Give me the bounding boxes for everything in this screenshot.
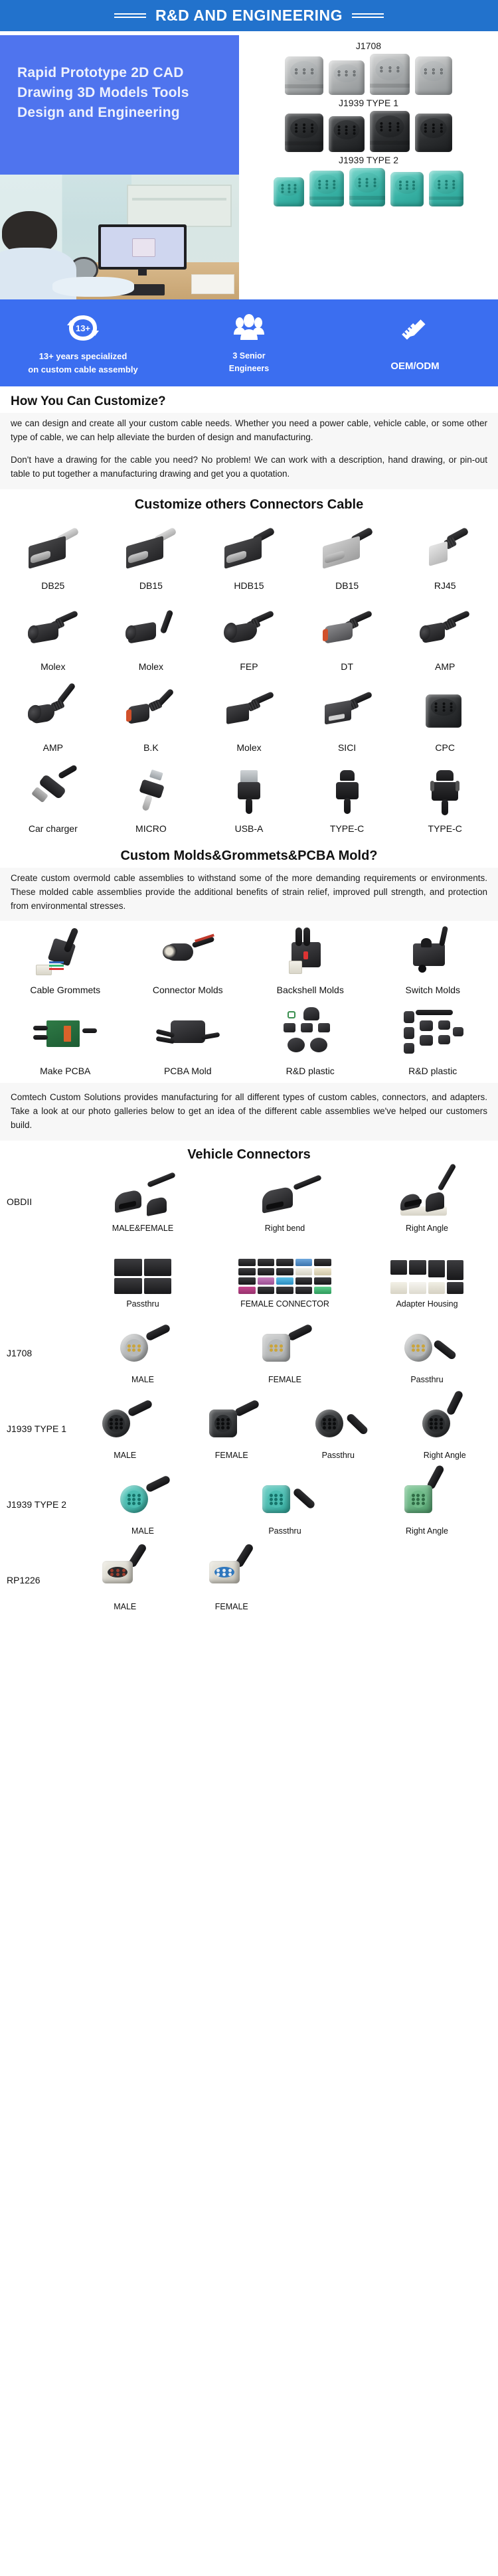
- vehicle-item-caption: Right Angle: [392, 1448, 498, 1465]
- connector-cell: MICRO: [102, 764, 201, 841]
- photo-monitor: [98, 224, 187, 270]
- j1939t1-passthru-icon: [285, 1392, 392, 1448]
- connector-group-j1939-type2: J1939 TYPE 2: [239, 155, 498, 206]
- j1708-female-icon: [214, 1317, 356, 1372]
- rd-plastic-harness-icon: [372, 1006, 495, 1063]
- connector-group-title: J1708: [239, 40, 498, 51]
- customize-body: we can design and create all your custom…: [0, 413, 498, 489]
- connector-cell: HDB15: [200, 521, 298, 598]
- svg-text:13+: 13+: [76, 323, 90, 333]
- rp1226-male-icon: [72, 1544, 179, 1599]
- obd-right-bend-icon: [214, 1165, 356, 1221]
- female-connector-cluster-icon: [214, 1241, 356, 1297]
- section-custom-molds: Custom Molds&Grommets&PCBA Mold? Create …: [0, 841, 498, 1084]
- vehicle-item-caption: FEMALE: [179, 1448, 286, 1465]
- vehicle-item: FEMALE: [214, 1317, 356, 1390]
- connector-cell: SICI: [298, 683, 396, 760]
- vehicle-item: MALE: [72, 1544, 179, 1617]
- vehicle-row-items: MALE FEMALE Passthru: [72, 1317, 498, 1390]
- obd-passthru-cluster-icon: [72, 1241, 214, 1297]
- j1708-connector-2: [329, 60, 365, 95]
- connector-label: CPC: [396, 740, 494, 760]
- j1939t1-female-icon: [179, 1392, 286, 1448]
- car-charger-icon: [4, 764, 102, 821]
- vehicle-item: FEMALE: [179, 1544, 286, 1617]
- section-other-connectors: Customize others Connectors Cable DB25 D…: [0, 489, 498, 841]
- comtech-body: Comtech Custom Solutions provides manufa…: [0, 1083, 498, 1141]
- j1708-passthru-icon: [356, 1317, 498, 1372]
- stat-years-label: 13+ years specialized on custom cable as…: [0, 350, 166, 376]
- cpc-circular-plug-icon: [396, 683, 494, 740]
- connector-cell: Molex: [102, 602, 201, 679]
- mold-cell: Backshell Molds: [249, 925, 372, 1002]
- j1939t1-connector-2: [329, 116, 365, 152]
- molds-grid-row-1: Cable Grommets Connector Molds: [0, 921, 498, 1002]
- vehicle-row-items: MALE&FEMALE Right bend: [72, 1165, 498, 1238]
- dsub-gray-cable-icon: [4, 521, 102, 578]
- comtech-paragraph: Comtech Custom Solutions provides manufa…: [11, 1091, 487, 1133]
- switch-mold-icon: [372, 925, 495, 982]
- pcba-board-icon: [4, 1006, 127, 1063]
- stats-bar: 13+ 13+ years specialized on custom cabl…: [0, 299, 498, 386]
- vehicle-item-caption: Passthru: [72, 1297, 214, 1314]
- molds-heading: Custom Molds&Grommets&PCBA Mold?: [0, 841, 498, 868]
- connector-group-j1708: J1708: [239, 40, 498, 95]
- amp-oval-plug-icon: [4, 683, 102, 740]
- connector-label: USB-A: [200, 821, 298, 841]
- connector-group-j1939-type1: J1939 TYPE 1: [239, 98, 498, 152]
- vehicle-item-caption: MALE: [72, 1448, 179, 1465]
- connector-label: HDB15: [200, 578, 298, 598]
- dt-orange-plug-icon: [298, 602, 396, 659]
- stat-oem-odm-label: OEM/ODM: [332, 359, 498, 374]
- connector-label: DB15: [298, 578, 396, 598]
- vehicle-item-caption: Right Angle: [356, 1524, 498, 1541]
- connector-grid-row-4: Car charger MICRO USB-A TYPE-C: [0, 760, 498, 841]
- molds-body: Create custom overmold cable assemblies …: [0, 868, 498, 922]
- vehicle-item: FEMALE CONNECTOR: [214, 1241, 356, 1314]
- hero-headline: Rapid Prototype 2D CAD Drawing 3D Models…: [17, 63, 223, 122]
- connector-cell: USB-A: [200, 764, 298, 841]
- rd-plastic-parts-icon: [249, 1006, 372, 1063]
- j1939t2-connector-1: [274, 177, 304, 206]
- mold-label: R&D plastic: [372, 1063, 495, 1083]
- type-c-icon: [298, 764, 396, 821]
- vehicle-row-label: J1939 TYPE 1: [0, 1423, 72, 1434]
- section-vehicle-connectors: Vehicle Connectors OBDII MALE&FEMALE Rig…: [0, 1141, 498, 1618]
- section-banner-rd-engineering: R&D AND ENGINEERING: [0, 0, 498, 31]
- mold-label: Switch Molds: [372, 982, 495, 1002]
- adapter-housing-cluster-icon: [356, 1241, 498, 1297]
- hero-headline-panel: Rapid Prototype 2D CAD Drawing 3D Models…: [0, 35, 239, 175]
- vehicle-item: Right Angle: [392, 1392, 498, 1465]
- amp-plug-icon: [396, 602, 494, 659]
- mold-label: Cable Grommets: [4, 982, 127, 1002]
- stat-oem-odm: OEM/ODM: [332, 309, 498, 376]
- vehicle-item-caption: MALE: [72, 1599, 179, 1617]
- micro-usb-icon: [102, 764, 201, 821]
- customize-paragraph-2: Don't have a drawing for the cable you n…: [11, 453, 487, 481]
- photo-person-arm: [52, 277, 133, 297]
- mold-cell: Cable Grommets: [4, 925, 127, 1002]
- vehicle-item-caption: Adapter Housing: [356, 1297, 498, 1314]
- j1708-connector-1: [285, 56, 323, 95]
- connector-label: AMP: [4, 740, 102, 760]
- connector-group-row: [239, 168, 498, 206]
- bottom-spacer: [0, 1618, 498, 1637]
- connector-cell: TYPE-C: [396, 764, 494, 841]
- vehicle-row-j1939-type1: J1939 TYPE 1 MALE FEMALE: [0, 1391, 498, 1467]
- vehicle-row-label: RP1226: [0, 1575, 72, 1585]
- vehicle-row-items: MALE Passthru Right Angle: [72, 1468, 498, 1541]
- connector-cell: DB15: [102, 521, 201, 598]
- vehicle-item-caption: FEMALE CONNECTOR: [214, 1297, 356, 1314]
- j1939t2-male-icon: [72, 1468, 214, 1524]
- j1708-connector-4: [415, 56, 452, 95]
- mold-cell: Connector Molds: [127, 925, 250, 1002]
- customize-paragraph-1: we can design and create all your custom…: [11, 417, 487, 445]
- j1708-connector-3: [370, 54, 410, 95]
- mold-cell: PCBA Mold: [127, 1006, 250, 1083]
- pcba-mold-box-icon: [127, 1006, 250, 1063]
- years-cycle-icon: 13+: [0, 309, 166, 347]
- connector-label: Car charger: [4, 821, 102, 841]
- vehicle-row-rp1226: RP1226 MALE FEMALE: [0, 1542, 498, 1618]
- vehicle-row-items: MALE FEMALE Passthru: [72, 1392, 498, 1465]
- other-connectors-heading: Customize others Connectors Cable: [0, 489, 498, 517]
- mold-cell: R&D plastic: [249, 1006, 372, 1083]
- obd-right-angle-icon: [356, 1165, 498, 1221]
- sici-plug-icon: [298, 683, 396, 740]
- connector-mold-icon: [127, 925, 250, 982]
- connector-cell: FEP: [200, 602, 298, 679]
- j1939t1-right-angle-icon: [392, 1392, 498, 1448]
- vehicle-row-items: Passthru FEMALE CONNECTOR: [72, 1241, 498, 1314]
- vehicle-row-obdii: OBDII MALE&FEMALE Right bend: [0, 1164, 498, 1240]
- dsub-white-cable-icon: [102, 521, 201, 578]
- connector-grid-row-2: Molex Molex FEP DT: [0, 598, 498, 679]
- vehicle-item-caption: Right bend: [214, 1221, 356, 1238]
- obd-male-female-icon: [72, 1165, 214, 1221]
- mold-label: Make PCBA: [4, 1063, 127, 1083]
- j1939t2-connector-4: [390, 172, 424, 206]
- photo-monitor-stand: [138, 269, 147, 275]
- ruler-pencil-icon: [332, 309, 498, 347]
- photo-monitor-screen: [101, 227, 184, 267]
- vehicle-row-label: J1939 TYPE 2: [0, 1499, 72, 1510]
- molds-grid-row-2: Make PCBA PCBA Mold: [0, 1002, 498, 1083]
- mold-label: Backshell Molds: [249, 982, 372, 1002]
- connector-cell: TYPE-C: [298, 764, 396, 841]
- photo-papers: [191, 274, 234, 294]
- photo-shelf: [127, 185, 232, 227]
- connector-label: B.K: [102, 740, 201, 760]
- vehicle-item-caption: FEMALE: [214, 1372, 356, 1390]
- mold-label: PCBA Mold: [127, 1063, 250, 1083]
- connector-group-title: J1939 TYPE 2: [239, 155, 498, 165]
- connector-cell: AMP: [4, 683, 102, 760]
- vehicle-item-caption: MALE&FEMALE: [72, 1221, 214, 1238]
- connector-cell: DB25: [4, 521, 102, 598]
- vehicle-item: Right Angle: [356, 1165, 498, 1238]
- molex-angled-plug-icon: [102, 602, 201, 659]
- vehicle-item: Passthru: [72, 1241, 214, 1314]
- hero-photo-engineer: [0, 175, 239, 299]
- vehicle-item-empty: [285, 1544, 392, 1617]
- connector-label: Molex: [102, 659, 201, 679]
- vehicle-row-housings: Passthru FEMALE CONNECTOR: [0, 1240, 498, 1315]
- banner-rule-right: [352, 13, 384, 18]
- j1939t1-connector-3: [370, 111, 410, 152]
- rj45-plug-icon: [396, 521, 494, 578]
- connector-cell: DT: [298, 602, 396, 679]
- molds-paragraph: Create custom overmold cable assemblies …: [11, 872, 487, 914]
- product-detail-page: R&D AND ENGINEERING Rapid Prototype 2D C…: [0, 0, 498, 1637]
- connector-label: DB15: [102, 578, 201, 598]
- hero-connector-gallery: J1708: [239, 35, 498, 299]
- connector-label: FEP: [200, 659, 298, 679]
- connector-label: SICI: [298, 740, 396, 760]
- j1939t2-passthru-icon: [214, 1468, 356, 1524]
- vehicle-item: FEMALE: [179, 1392, 286, 1465]
- vehicle-row-label: OBDII: [0, 1196, 72, 1207]
- molex-rect-plug-icon: [200, 683, 298, 740]
- vehicle-row-label: J1708: [0, 1348, 72, 1358]
- connector-grid-row-3: AMP B.K Molex SICI: [0, 679, 498, 760]
- vehicle-item: Right Angle: [356, 1468, 498, 1541]
- connector-label: DT: [298, 659, 396, 679]
- connector-group-title: J1939 TYPE 1: [239, 98, 498, 108]
- mold-label: R&D plastic: [249, 1063, 372, 1083]
- section-how-you-can-customize: How You Can Customize? we can design and…: [0, 386, 498, 489]
- vehicle-item: Right bend: [214, 1165, 356, 1238]
- vehicle-item-empty: [392, 1544, 498, 1617]
- connector-cell: CPC: [396, 683, 494, 760]
- vehicle-item: Adapter Housing: [356, 1241, 498, 1314]
- stat-engineers: 3 Senior Engineers: [166, 309, 332, 376]
- type-c-screw-icon: [396, 764, 494, 821]
- mold-label: Connector Molds: [127, 982, 250, 1002]
- connector-cell: Molex: [4, 602, 102, 679]
- mold-cell: Make PCBA: [4, 1006, 127, 1083]
- banner-rule-left: [114, 13, 146, 18]
- vehicle-item: Passthru: [285, 1392, 392, 1465]
- connector-label: TYPE-C: [396, 821, 494, 841]
- dsub-black-cable-icon: [200, 521, 298, 578]
- vehicle-item: MALE: [72, 1317, 214, 1390]
- hero-section: Rapid Prototype 2D CAD Drawing 3D Models…: [0, 31, 498, 299]
- fep-round-plug-icon: [200, 602, 298, 659]
- stat-engineers-label: 3 Senior Engineers: [166, 350, 332, 375]
- connector-label: DB25: [4, 578, 102, 598]
- connector-cell: B.K: [102, 683, 201, 760]
- vehicle-item: MALE: [72, 1392, 179, 1465]
- connector-label: AMP: [396, 659, 494, 679]
- vehicle-item-caption: Passthru: [356, 1372, 498, 1390]
- cable-grommet-icon: [4, 925, 127, 982]
- stat-years: 13+ 13+ years specialized on custom cabl…: [0, 309, 166, 376]
- connector-group-row: [239, 54, 498, 95]
- j1939t2-connector-3: [349, 168, 385, 206]
- connector-cell: RJ45: [396, 521, 494, 598]
- vehicle-item-caption: MALE: [72, 1524, 214, 1541]
- j1939t2-connector-2: [309, 171, 344, 206]
- dsub-gray-shell-icon: [298, 521, 396, 578]
- vehicle-item-caption: Passthru: [214, 1524, 356, 1541]
- j1939t1-male-icon: [72, 1392, 179, 1448]
- j1939t2-connector-5: [429, 171, 463, 206]
- people-group-icon: [166, 309, 332, 347]
- vehicle-row-items: MALE FEMALE: [72, 1544, 498, 1617]
- connector-cell: Molex: [200, 683, 298, 760]
- connector-group-row: [239, 111, 498, 152]
- hero-left-column: Rapid Prototype 2D CAD Drawing 3D Models…: [0, 35, 239, 299]
- vehicle-connectors-heading: Vehicle Connectors: [0, 1141, 498, 1164]
- vehicle-row-j1939-type2: J1939 TYPE 2 MALE Passthru: [0, 1467, 498, 1542]
- vehicle-item-caption: FEMALE: [179, 1599, 286, 1617]
- connector-cell: DB15: [298, 521, 396, 598]
- connector-label: RJ45: [396, 578, 494, 598]
- rp1226-female-icon: [179, 1544, 286, 1599]
- usb-a-icon: [200, 764, 298, 821]
- molex-plug-icon: [4, 602, 102, 659]
- mold-cell: Switch Molds: [372, 925, 495, 1002]
- vehicle-item: Passthru: [214, 1468, 356, 1541]
- connector-cell: AMP: [396, 602, 494, 679]
- j1708-male-icon: [72, 1317, 214, 1372]
- vehicle-item: MALE&FEMALE: [72, 1165, 214, 1238]
- connector-label: Molex: [200, 740, 298, 760]
- customize-heading: How You Can Customize?: [0, 386, 498, 413]
- vehicle-row-j1708: J1708 MALE FEMALE: [0, 1315, 498, 1391]
- vehicle-item-caption: Passthru: [285, 1448, 392, 1465]
- vehicle-item: MALE: [72, 1468, 214, 1541]
- backshell-mold-icon: [249, 925, 372, 982]
- vehicle-item-caption: Right Angle: [356, 1221, 498, 1238]
- connector-grid-row-1: DB25 DB15 HDB15 DB15: [0, 517, 498, 598]
- connector-label: TYPE-C: [298, 821, 396, 841]
- vehicle-item: Passthru: [356, 1317, 498, 1390]
- j1939t2-right-angle-icon: [356, 1468, 498, 1524]
- banner-title: R&D AND ENGINEERING: [155, 7, 343, 25]
- vehicle-item-caption: MALE: [72, 1372, 214, 1390]
- connector-label: Molex: [4, 659, 102, 679]
- bk-plug-icon: [102, 683, 201, 740]
- j1939t1-connector-1: [285, 114, 323, 152]
- connector-label: MICRO: [102, 821, 201, 841]
- j1939t1-connector-4: [415, 114, 452, 152]
- mold-cell: R&D plastic: [372, 1006, 495, 1083]
- connector-cell: Car charger: [4, 764, 102, 841]
